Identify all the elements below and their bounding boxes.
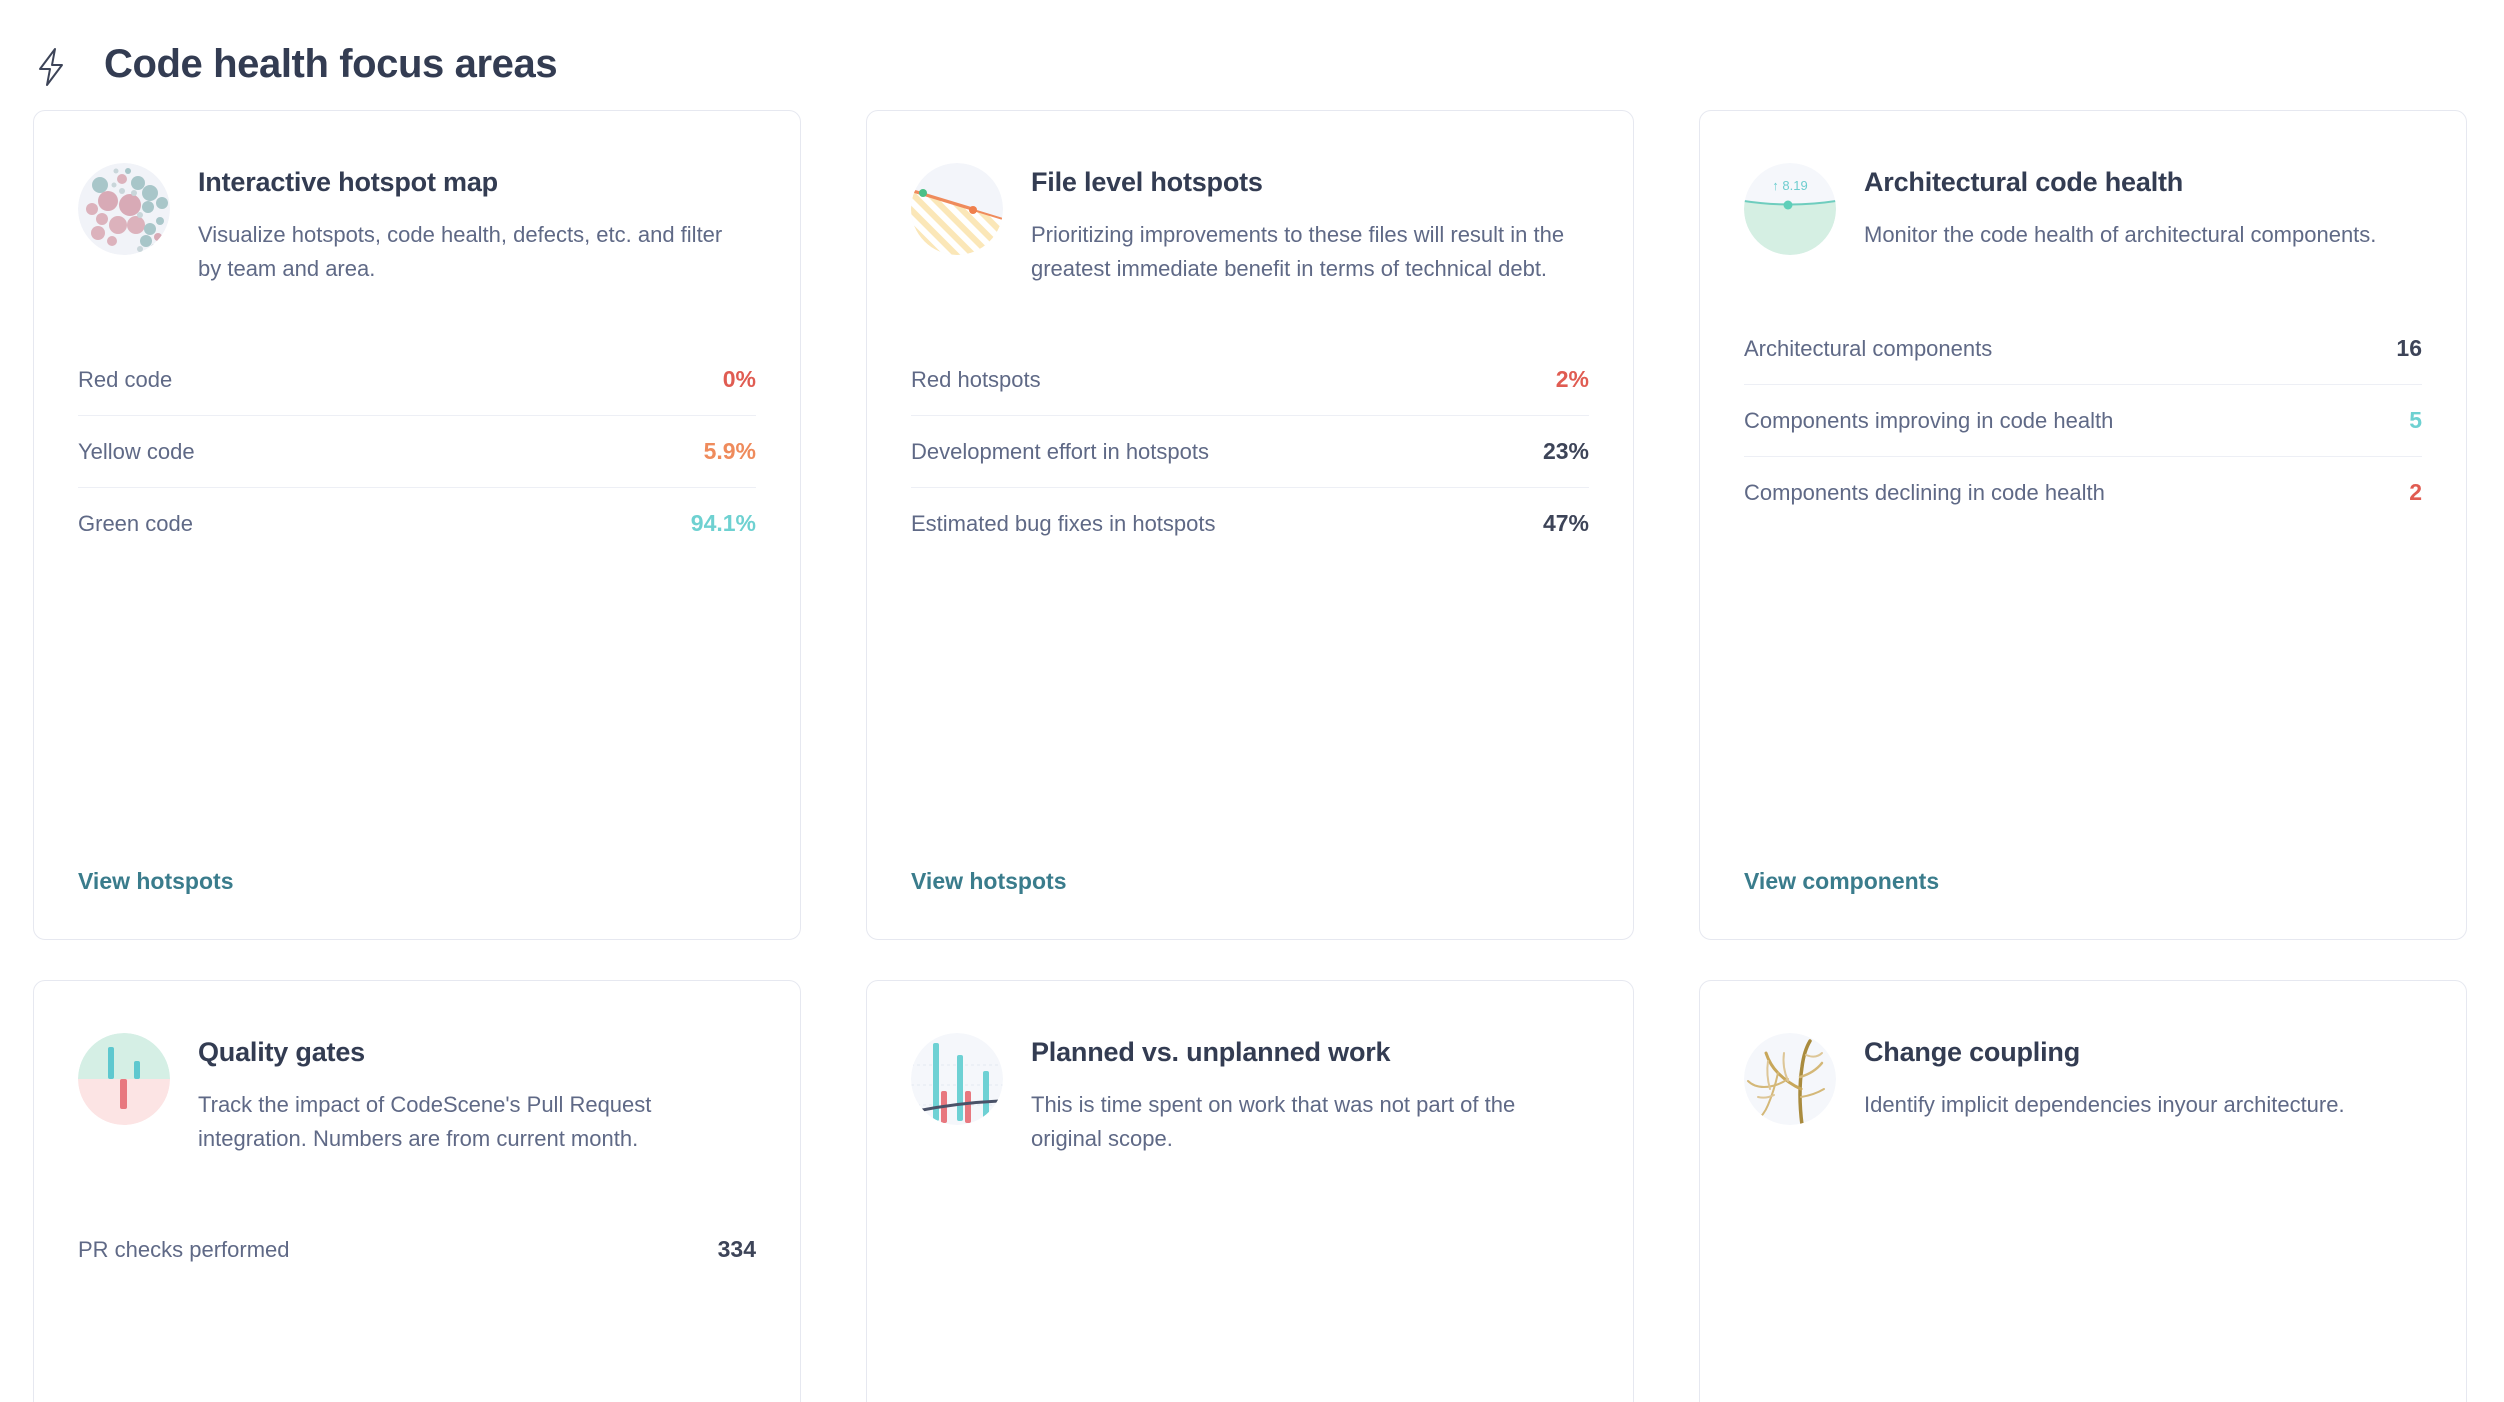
stat-label: Components improving in code health xyxy=(1744,408,2113,434)
split-bars-icon xyxy=(78,1033,170,1125)
card-header-text: Change coupling Identify implicit depend… xyxy=(1864,1033,2422,1122)
view-hotspots-link[interactable]: View hotspots xyxy=(911,868,1067,895)
stat-row: Red code 0% xyxy=(78,344,756,416)
bar-chart-icon xyxy=(911,1033,1003,1125)
lightning-bolt-icon xyxy=(28,44,74,90)
card-header: Interactive hotspot map Visualize hotspo… xyxy=(78,155,756,286)
card-planned-vs-unplanned-work[interactable]: Planned vs. unplanned work This is time … xyxy=(866,980,1634,1402)
stats-list: Red code 0% Yellow code 5.9% Green code … xyxy=(78,344,756,559)
card-header: Quality gates Track the impact of CodeSc… xyxy=(78,1025,756,1156)
stat-label: Estimated bug fixes in hotspots xyxy=(911,511,1216,537)
stats-list: Red hotspots 2% Development effort in ho… xyxy=(911,344,1589,559)
stat-label: PR checks performed xyxy=(78,1237,290,1263)
striped-trend-icon xyxy=(911,163,1003,255)
icon-badge-text: ↑ 8.19 xyxy=(1772,178,1807,193)
view-hotspots-link[interactable]: View hotspots xyxy=(78,868,234,895)
card-description: This is time spent on work that was not … xyxy=(1031,1088,1571,1156)
stat-value: 5 xyxy=(2409,407,2422,434)
card-architectural-code-health[interactable]: ↑ 8.19 Architectural code health Monitor… xyxy=(1699,110,2467,940)
stat-row: Green code 94.1% xyxy=(78,488,756,559)
stat-row: Components improving in code health 5 xyxy=(1744,385,2422,457)
card-title: File level hotspots xyxy=(1031,167,1589,198)
card-description: Visualize hotspots, code health, defects… xyxy=(198,218,738,286)
card-header: ↑ 8.19 Architectural code health Monitor… xyxy=(1744,155,2422,255)
stat-value: 5.9% xyxy=(704,438,756,465)
stat-row: PR checks performed 334 xyxy=(78,1214,756,1285)
cards-grid: Interactive hotspot map Visualize hotspo… xyxy=(0,110,2504,1402)
page-title: Code health focus areas xyxy=(104,44,557,84)
card-description: Monitor the code health of architectural… xyxy=(1864,218,2404,252)
card-description: Identify implicit dependencies inyour ar… xyxy=(1864,1088,2404,1122)
stat-row: Components declining in code health 2 xyxy=(1744,457,2422,528)
card-header: File level hotspots Prioritizing improve… xyxy=(911,155,1589,286)
stat-value: 23% xyxy=(1543,438,1589,465)
card-header-text: File level hotspots Prioritizing improve… xyxy=(1031,163,1589,286)
stat-label: Components declining in code health xyxy=(1744,480,2105,506)
stat-value: 2 xyxy=(2409,479,2422,506)
stats-list: Architectural components 16 Components i… xyxy=(1744,313,2422,528)
card-title: Change coupling xyxy=(1864,1037,2422,1068)
stat-value: 16 xyxy=(2396,335,2422,362)
stat-row: Red hotspots 2% xyxy=(911,344,1589,416)
stat-value: 0% xyxy=(723,366,756,393)
card-header-text: Quality gates Track the impact of CodeSc… xyxy=(198,1033,756,1156)
card-description: Prioritizing improvements to these files… xyxy=(1031,218,1571,286)
stat-label: Architectural components xyxy=(1744,336,1992,362)
stat-value: 334 xyxy=(718,1236,756,1263)
stat-value: 47% xyxy=(1543,510,1589,537)
card-header-text: Architectural code health Monitor the co… xyxy=(1864,163,2422,252)
stat-value: 94.1% xyxy=(691,510,756,537)
card-header: Planned vs. unplanned work This is time … xyxy=(911,1025,1589,1156)
stat-label: Red hotspots xyxy=(911,367,1041,393)
card-title: Quality gates xyxy=(198,1037,756,1068)
card-title: Architectural code health xyxy=(1864,167,2422,198)
card-header: Change coupling Identify implicit depend… xyxy=(1744,1025,2422,1125)
stat-label: Yellow code xyxy=(78,439,195,465)
card-file-level-hotspots[interactable]: File level hotspots Prioritizing improve… xyxy=(866,110,1634,940)
card-interactive-hotspot-map[interactable]: Interactive hotspot map Visualize hotspo… xyxy=(33,110,801,940)
card-title: Planned vs. unplanned work xyxy=(1031,1037,1589,1068)
card-description: Track the impact of CodeScene's Pull Req… xyxy=(198,1088,738,1156)
stat-row: Estimated bug fixes in hotspots 47% xyxy=(911,488,1589,559)
card-change-coupling[interactable]: Change coupling Identify implicit depend… xyxy=(1699,980,2467,1402)
stat-value: 2% xyxy=(1556,366,1589,393)
card-header-text: Planned vs. unplanned work This is time … xyxy=(1031,1033,1589,1156)
branching-tree-icon xyxy=(1744,1033,1836,1125)
stat-row: Development effort in hotspots 23% xyxy=(911,416,1589,488)
bubble-map-icon xyxy=(78,163,170,255)
stat-label: Development effort in hotspots xyxy=(911,439,1209,465)
stat-row: Yellow code 5.9% xyxy=(78,416,756,488)
view-components-link[interactable]: View components xyxy=(1744,868,1939,895)
card-header-text: Interactive hotspot map Visualize hotspo… xyxy=(198,163,756,286)
stats-list: PR checks performed 334 xyxy=(78,1214,756,1285)
card-quality-gates[interactable]: Quality gates Track the impact of CodeSc… xyxy=(33,980,801,1402)
stat-label: Green code xyxy=(78,511,193,537)
area-trend-icon: ↑ 8.19 xyxy=(1744,163,1836,255)
stat-label: Red code xyxy=(78,367,172,393)
stat-row: Architectural components 16 xyxy=(1744,313,2422,385)
page-header: Code health focus areas xyxy=(0,0,2504,110)
card-title: Interactive hotspot map xyxy=(198,167,756,198)
